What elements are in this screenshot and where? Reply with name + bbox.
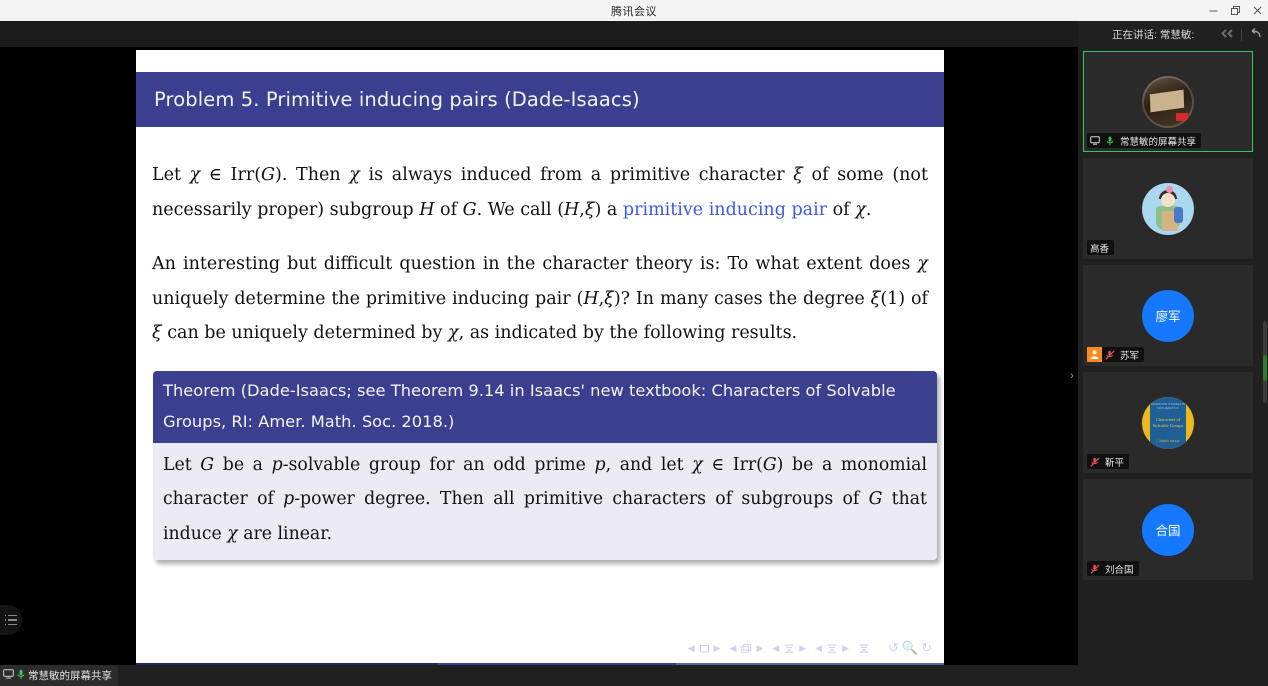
p2-a: An interesting but difficult question in… (152, 254, 917, 274)
p2-chi2: χ (448, 323, 459, 343)
mic-off-icon (1102, 347, 1117, 362)
p1-G2: G (463, 200, 477, 220)
th-c: -solvable group for an odd prime (283, 455, 595, 475)
avatar-photo-flag (1176, 113, 1188, 121)
participant-tile-presenter[interactable]: 常慧敏的屏幕共享 (1083, 51, 1253, 152)
next-frame-arrow[interactable]: ▶ (756, 644, 763, 653)
avatar-flower (1166, 186, 1173, 193)
desktop-top-strip (0, 21, 1078, 47)
slide-nav-group[interactable]: ◀ ▶ (688, 643, 721, 654)
taskbar: 常慧敏的屏幕共享 (0, 665, 1268, 686)
avatar (1142, 183, 1194, 235)
forward-arrow-icon[interactable]: ↻ (921, 640, 932, 656)
theorem-body: Let G be a p-solvable group for an odd p… (153, 443, 937, 561)
th-i: are linear. (238, 524, 332, 544)
p2-H1: H (583, 289, 598, 309)
handle-dots-icon (5, 615, 7, 626)
back-arrow-icon[interactable]: ↺ (888, 640, 899, 656)
p1-xi2: ξ (585, 200, 595, 220)
p1-b: ∈ Irr( (200, 165, 261, 185)
slide-title-bar: Problem 5. Primitive inducing pairs (Dad… (136, 72, 944, 127)
avatar-photo-book (1150, 89, 1184, 112)
p2-b: uniquely determine the primitive inducin… (152, 289, 583, 309)
header-divider (1241, 29, 1242, 41)
participant-name: 苏军 (1117, 348, 1139, 362)
collapse-panel-handle[interactable]: › (1066, 359, 1078, 393)
tile-badge: 高香 (1087, 240, 1114, 255)
book-author-line: I. Martin Isaacs (1150, 439, 1186, 443)
book-title: Characters of Solvable Groups (1150, 417, 1186, 429)
next-subsection-arrow[interactable]: ▶ (799, 644, 806, 653)
p2-g: , as indicated by the following results. (459, 323, 798, 343)
window-controls (1202, 0, 1268, 21)
th-p2: p (595, 455, 606, 475)
p1-c: ). Then (275, 165, 349, 185)
p1-k: . (866, 200, 872, 220)
slide-body: Let χ ∈ Irr(G). Then χ is always induced… (136, 127, 944, 657)
panel-header-icons (1221, 21, 1262, 48)
prev-subsection-arrow[interactable]: ◀ (772, 644, 779, 653)
search-icon[interactable]: 🔍 (902, 640, 918, 656)
close-icon[interactable] (1246, 0, 1268, 21)
mic-on-icon (1102, 133, 1117, 148)
tile-badge: 刘合国 (1087, 561, 1139, 576)
speaking-now-label: 正在讲话: 常慧敏: (1112, 27, 1194, 42)
theorem-title: Theorem (Dade-Isaacs; see Theorem 9.14 i… (153, 371, 937, 443)
p2-xi2: ξ (871, 289, 881, 309)
prev-section-arrow[interactable]: ◀ (815, 644, 822, 653)
p1-chi2: χ (349, 165, 360, 185)
mic-on-icon (17, 669, 25, 683)
th-b: be a (214, 455, 272, 475)
panel-header: 正在讲话: 常慧敏: (1078, 21, 1268, 48)
minimize-icon[interactable] (1202, 0, 1224, 21)
participant-tiles: 常慧敏的屏幕共享 高香 廖军 (1083, 51, 1264, 661)
p1-H1: H (419, 200, 434, 220)
th-e: ∈ Irr( (703, 455, 763, 475)
avatar: GRADUATE STUDIES IN MATHEMATICS Characte… (1142, 397, 1194, 449)
frame-nav-group[interactable]: ◀ ▶ (729, 643, 763, 654)
beamer-navigation-bar[interactable]: ◀ ▶ ◀ ▶ ◀ (688, 640, 932, 656)
shared-screen-area: Problem 5. Primitive inducing pairs (Dad… (0, 21, 1078, 665)
screen-share-icon (3, 669, 14, 682)
th-d: , and let (606, 455, 693, 475)
presentation-slide: Problem 5. Primitive inducing pairs (Dad… (136, 50, 944, 680)
th-G1: G (200, 455, 214, 475)
mic-off-icon (1087, 454, 1102, 469)
avatar-sleeve (1174, 207, 1183, 223)
section-nav-group[interactable]: ◀ ▶ (815, 643, 849, 654)
p1-G1: G (261, 165, 275, 185)
participant-name: 高香 (1087, 241, 1109, 255)
p1-i: ) a (595, 200, 623, 220)
p1-xi1: ξ (793, 165, 803, 185)
paragraph-1: Let χ ∈ Irr(G). Then χ is always induced… (152, 158, 928, 227)
p1-f: of (434, 200, 462, 220)
participants-panel: 正在讲话: 常慧敏: (1078, 21, 1268, 665)
p2-f: can be uniquely determined by (162, 323, 448, 343)
th-p3: p (283, 489, 294, 509)
frames-stack-icon[interactable] (740, 643, 752, 654)
taskbar-item-screen-share[interactable]: 常慧敏的屏幕共享 (0, 665, 118, 686)
screen-share-toolbar-handle[interactable] (0, 605, 22, 635)
panel-scrollbar-thumb[interactable] (1263, 355, 1267, 381)
avatar-head (1161, 193, 1175, 207)
th-g: -power degree. Then all primitive charac… (294, 489, 868, 509)
mic-off-icon (1087, 561, 1102, 576)
p2-chi1: χ (917, 254, 928, 274)
participant-name: 常慧敏的屏幕共享 (1117, 134, 1196, 148)
p1-a: Let (152, 165, 190, 185)
p1-g: . We call ( (477, 200, 564, 220)
th-chi2: χ (227, 524, 237, 544)
return-arrow-icon[interactable] (1249, 28, 1262, 42)
taskbar-item-label: 常慧敏的屏幕共享 (28, 668, 112, 683)
avatar: 廖军 (1142, 290, 1194, 342)
subsection-nav-group[interactable]: ◀ ▶ (772, 643, 806, 654)
participant-name: 刘合国 (1102, 562, 1134, 576)
tile-badge: 靳平 (1087, 454, 1129, 469)
subsection-icon[interactable] (783, 643, 795, 654)
th-a: Let (163, 455, 200, 475)
p1-chi3: χ (855, 200, 866, 220)
handle-lines-icon (8, 615, 17, 626)
th-p1: p (272, 455, 283, 475)
slide-title: Problem 5. Primitive inducing pairs (Dad… (136, 88, 640, 111)
next-section-arrow[interactable]: ▶ (842, 644, 849, 653)
th-G2: G (763, 455, 777, 475)
next-slide-arrow[interactable]: ▶ (714, 644, 721, 653)
p2-xi1: ξ (604, 289, 614, 309)
participant-tile-2[interactable]: 高香 (1083, 158, 1253, 259)
book-series-line: GRADUATE STUDIES IN MATHEMATICS (1150, 402, 1186, 410)
chevron-left-icon[interactable] (1221, 28, 1234, 42)
app-root: 腾讯会议 Problem 5. P (0, 0, 1268, 686)
p2-d: )? In many cases the degree (614, 289, 871, 309)
prev-slide-arrow[interactable]: ◀ (688, 644, 695, 653)
paragraph-2: An interesting but difficult question in… (152, 247, 928, 351)
window-title: 腾讯会议 (611, 3, 657, 19)
p2-xi3: ξ (152, 323, 162, 343)
section-icon[interactable] (826, 643, 838, 654)
avatar (1142, 76, 1194, 128)
prev-frame-arrow[interactable]: ◀ (729, 644, 736, 653)
person-icon (1087, 347, 1102, 362)
tile-badge: 苏军 (1087, 347, 1144, 362)
restore-icon[interactable] (1224, 0, 1246, 21)
p1-H2: H (564, 200, 579, 220)
slide-square-icon[interactable] (699, 643, 710, 654)
document-icon[interactable] (858, 643, 870, 654)
history-nav-group[interactable]: ↺ 🔍 ↻ (888, 640, 932, 656)
p1-d: is always induced from a primitive chara… (360, 165, 793, 185)
primitive-inducing-pair-link[interactable]: primitive inducing pair (623, 200, 827, 220)
theorem-block: Theorem (Dade-Isaacs; see Theorem 9.14 i… (153, 371, 937, 561)
participant-name: 靳平 (1102, 455, 1124, 469)
p2-e: (1) of (880, 289, 928, 309)
screen-share-icon (1087, 133, 1102, 148)
th-G3: G (869, 489, 883, 509)
window-titlebar: 腾讯会议 (0, 0, 1268, 21)
p1-chi1: χ (190, 165, 201, 185)
participant-tile-3[interactable]: 廖军 苏军 (1083, 265, 1253, 366)
tile-badge: 常慧敏的屏幕共享 (1087, 133, 1201, 148)
participant-tile-5[interactable]: 合国 刘合国 (1083, 479, 1253, 580)
avatar: 合国 (1142, 504, 1194, 556)
avatar-book-inner: GRADUATE STUDIES IN MATHEMATICS Characte… (1150, 397, 1186, 449)
th-chi1: χ (692, 455, 702, 475)
participant-tile-4[interactable]: GRADUATE STUDIES IN MATHEMATICS Characte… (1083, 372, 1253, 473)
p1-j: of (827, 200, 855, 220)
